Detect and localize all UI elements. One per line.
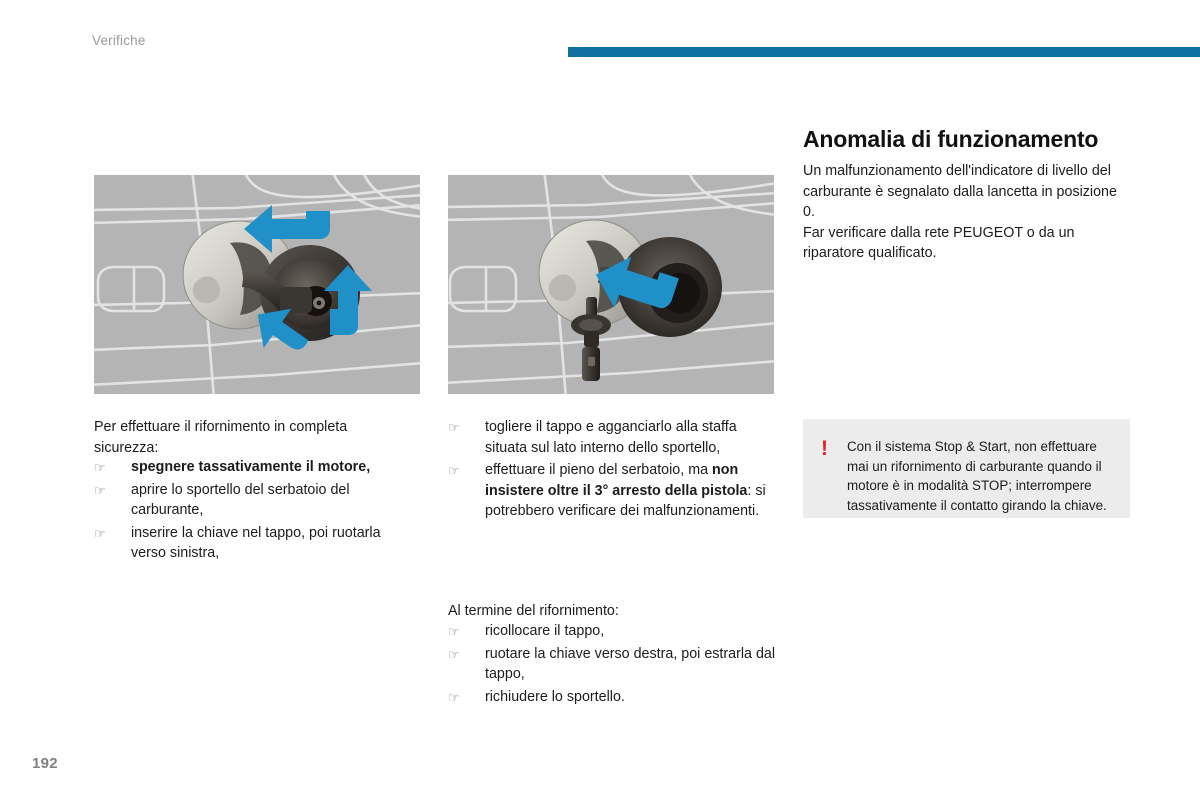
list-item: ☞ togliere il tappo e agganciarlo alla s… (448, 417, 768, 458)
list-item: ☞ richiudere lo sportello. (448, 687, 778, 708)
list-item-label-part: effettuare il pieno del serbatoio, ma (485, 462, 712, 478)
pointing-hand-icon: ☞ (94, 458, 120, 479)
warning-callout: ! Con il sistema Stop & Start, non effet… (803, 419, 1130, 518)
page-number: 192 (32, 755, 58, 772)
list-item: ☞ aprire lo sportello del serbatoio del … (94, 480, 404, 521)
fuel-cap-remove-illustration (448, 175, 774, 394)
pointing-hand-icon: ☞ (448, 418, 474, 439)
middle-column-list: ☞ togliere il tappo e agganciarlo alla s… (448, 417, 768, 524)
fuel-cap-unlock-illustration (94, 175, 420, 394)
warning-text: Con il sistema Stop & Start, non effettu… (847, 437, 1115, 516)
pointing-hand-icon: ☞ (448, 645, 474, 666)
middle-column-closing-list: ☞ ricollocare il tappo, ☞ ruotare la chi… (448, 621, 778, 709)
left-column-intro: Per effettuare il rifornimento in comple… (94, 417, 394, 458)
header-accent-rule (568, 47, 1200, 57)
pointing-hand-icon: ☞ (94, 524, 120, 545)
list-item: ☞ spegnere tassativamente il motore, (94, 457, 404, 478)
list-item-label: ruotare la chiave verso destra, poi estr… (485, 646, 775, 683)
list-item: ☞ ruotare la chiave verso destra, poi es… (448, 644, 778, 685)
list-item: ☞ inserire la chiave nel tappo, poi ruot… (94, 523, 404, 564)
list-item: ☞ effettuare il pieno del serbatoio, ma … (448, 460, 768, 522)
middle-column-closing-intro: Al termine del rifornimento: (448, 601, 768, 622)
list-item-label: ricollocare il tappo, (485, 623, 604, 639)
page-title: Anomalia di funzionamento (803, 126, 1098, 153)
pointing-hand-icon: ☞ (448, 461, 474, 482)
pointing-hand-icon: ☞ (94, 481, 120, 502)
list-item-label: togliere il tappo e agganciarlo alla sta… (485, 419, 737, 456)
exclamation-icon: ! (821, 438, 828, 459)
pointing-hand-icon: ☞ (448, 688, 474, 709)
pointing-hand-icon: ☞ (448, 622, 474, 643)
running-header-label: Verifiche (92, 33, 146, 48)
list-item-label: aprire lo sportello del serbatoio del ca… (131, 482, 350, 519)
list-item-label: richiudere lo sportello. (485, 689, 625, 705)
left-column-list: ☞ spegnere tassativamente il motore, ☞ a… (94, 457, 404, 566)
list-item-label: spegnere tassativamente il motore, (131, 459, 370, 475)
section-body-text: Un malfunzionamento dell'indicatore di l… (803, 161, 1123, 264)
list-item-label: inserire la chiave nel tappo, poi ruotar… (131, 525, 381, 562)
list-item: ☞ ricollocare il tappo, (448, 621, 778, 642)
